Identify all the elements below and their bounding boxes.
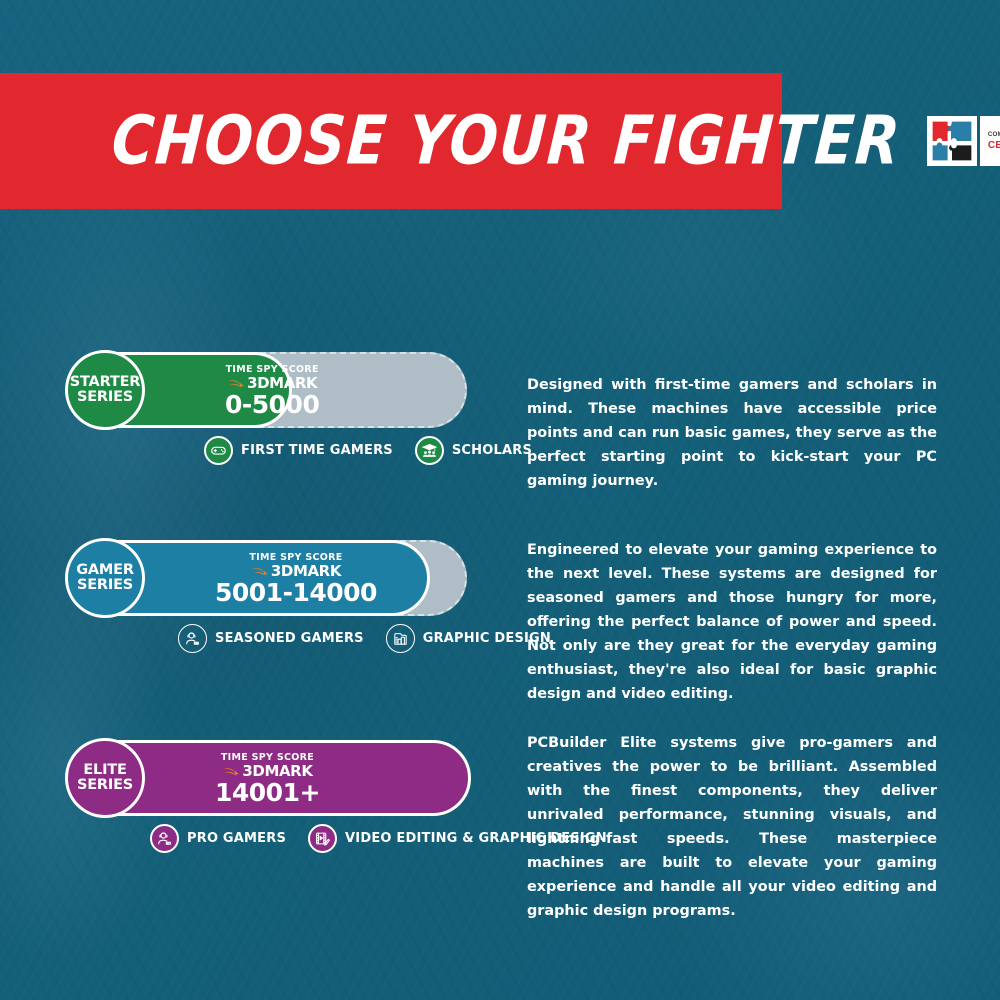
score-value: 5001-14000 [215,580,377,606]
score-value: 0-5000 [225,392,319,418]
series-badge-starter[interactable]: STARTER SERIES [65,350,145,430]
swoosh-icon [227,378,245,390]
tier-starter-graphic: STARTER SERIES TIME SPY SCORE 3DMARK 0-5… [65,352,505,428]
swoosh-icon [222,766,240,778]
persona-first-time-gamers[interactable]: FIRST TIME GAMERS [204,436,393,465]
compatibility-certified-badge: COMPATIBILITY CERTIFIED [927,116,1000,166]
persona-label: PRO GAMERS [187,831,286,846]
score-block-gamer: TIME SPY SCORE 3DMARK 5001-14000 [215,552,377,606]
persona-label: SCHOLARS [452,443,532,458]
series-name-line2: SERIES [77,778,133,793]
series-name-line1: GAMER [76,563,134,578]
page-title: CHOOSE YOUR FIGHTER [110,107,904,174]
persona-scholars[interactable]: SCHOLARS [415,436,532,465]
video-edit-icon [308,824,337,853]
tier-starter-description: Designed with first-time gamers and scho… [527,373,937,493]
headset-gamer-icon [178,624,207,653]
palette-design-icon [386,624,415,653]
puzzle-icon [927,116,977,166]
tier-gamer-description: Engineered to elevate your gaming experi… [527,538,937,706]
header-banner: CHOOSE YOUR FIGHTER COMPATIBILITY CERTIF… [0,73,782,209]
3dmark-wordmark: 3DMARK [271,564,341,579]
compatibility-badge-text: COMPATIBILITY CERTIFIED [980,116,1000,166]
3dmark-logo: 3DMARK [227,376,317,391]
swoosh-icon [251,566,269,578]
pro-gamer-icon [150,824,179,853]
compat-label-compatibility: COMPATIBILITY [988,131,1000,138]
tier-gamer-graphic: GAMER SERIES TIME SPY SCORE 3DMARK 5001-… [65,540,505,616]
series-badge-gamer[interactable]: GAMER SERIES [65,538,145,618]
score-value: 14001+ [215,780,320,806]
series-name-line2: SERIES [77,390,133,405]
3dmark-logo: 3DMARK [251,564,341,579]
persona-label: FIRST TIME GAMERS [241,443,393,458]
graduation-cap-icon [415,436,444,465]
series-name-line2: SERIES [77,578,133,593]
gamepad-icon [204,436,233,465]
persona-seasoned-gamers[interactable]: SEASONED GAMERS [178,624,364,653]
score-block-starter: TIME SPY SCORE 3DMARK 0-5000 [225,364,319,418]
infographic-page: CHOOSE YOUR FIGHTER COMPATIBILITY CERTIF… [0,0,1000,1000]
persona-pro-gamers[interactable]: PRO GAMERS [150,824,286,853]
persona-row-starter: FIRST TIME GAMERS [204,436,544,465]
series-badge-elite[interactable]: ELITE SERIES [65,738,145,818]
3dmark-logo: 3DMARK [222,764,312,779]
compat-label-certified: CERTIFIED [988,140,1000,151]
tier-elite-description: PCBuilder Elite systems give pro-gamers … [527,731,937,923]
score-block-elite: TIME SPY SCORE 3DMARK 14001+ [215,752,320,806]
persona-row-gamer: SEASONED GAMERS GRAPHIC DESIGN [178,624,563,653]
3dmark-wordmark: 3DMARK [242,764,312,779]
3dmark-wordmark: 3DMARK [247,376,317,391]
series-name-line1: STARTER [70,375,141,390]
persona-label: SEASONED GAMERS [215,631,364,646]
series-name-line1: ELITE [83,763,126,778]
tier-elite-graphic: ELITE SERIES TIME SPY SCORE 3DMARK 14001… [65,740,505,816]
